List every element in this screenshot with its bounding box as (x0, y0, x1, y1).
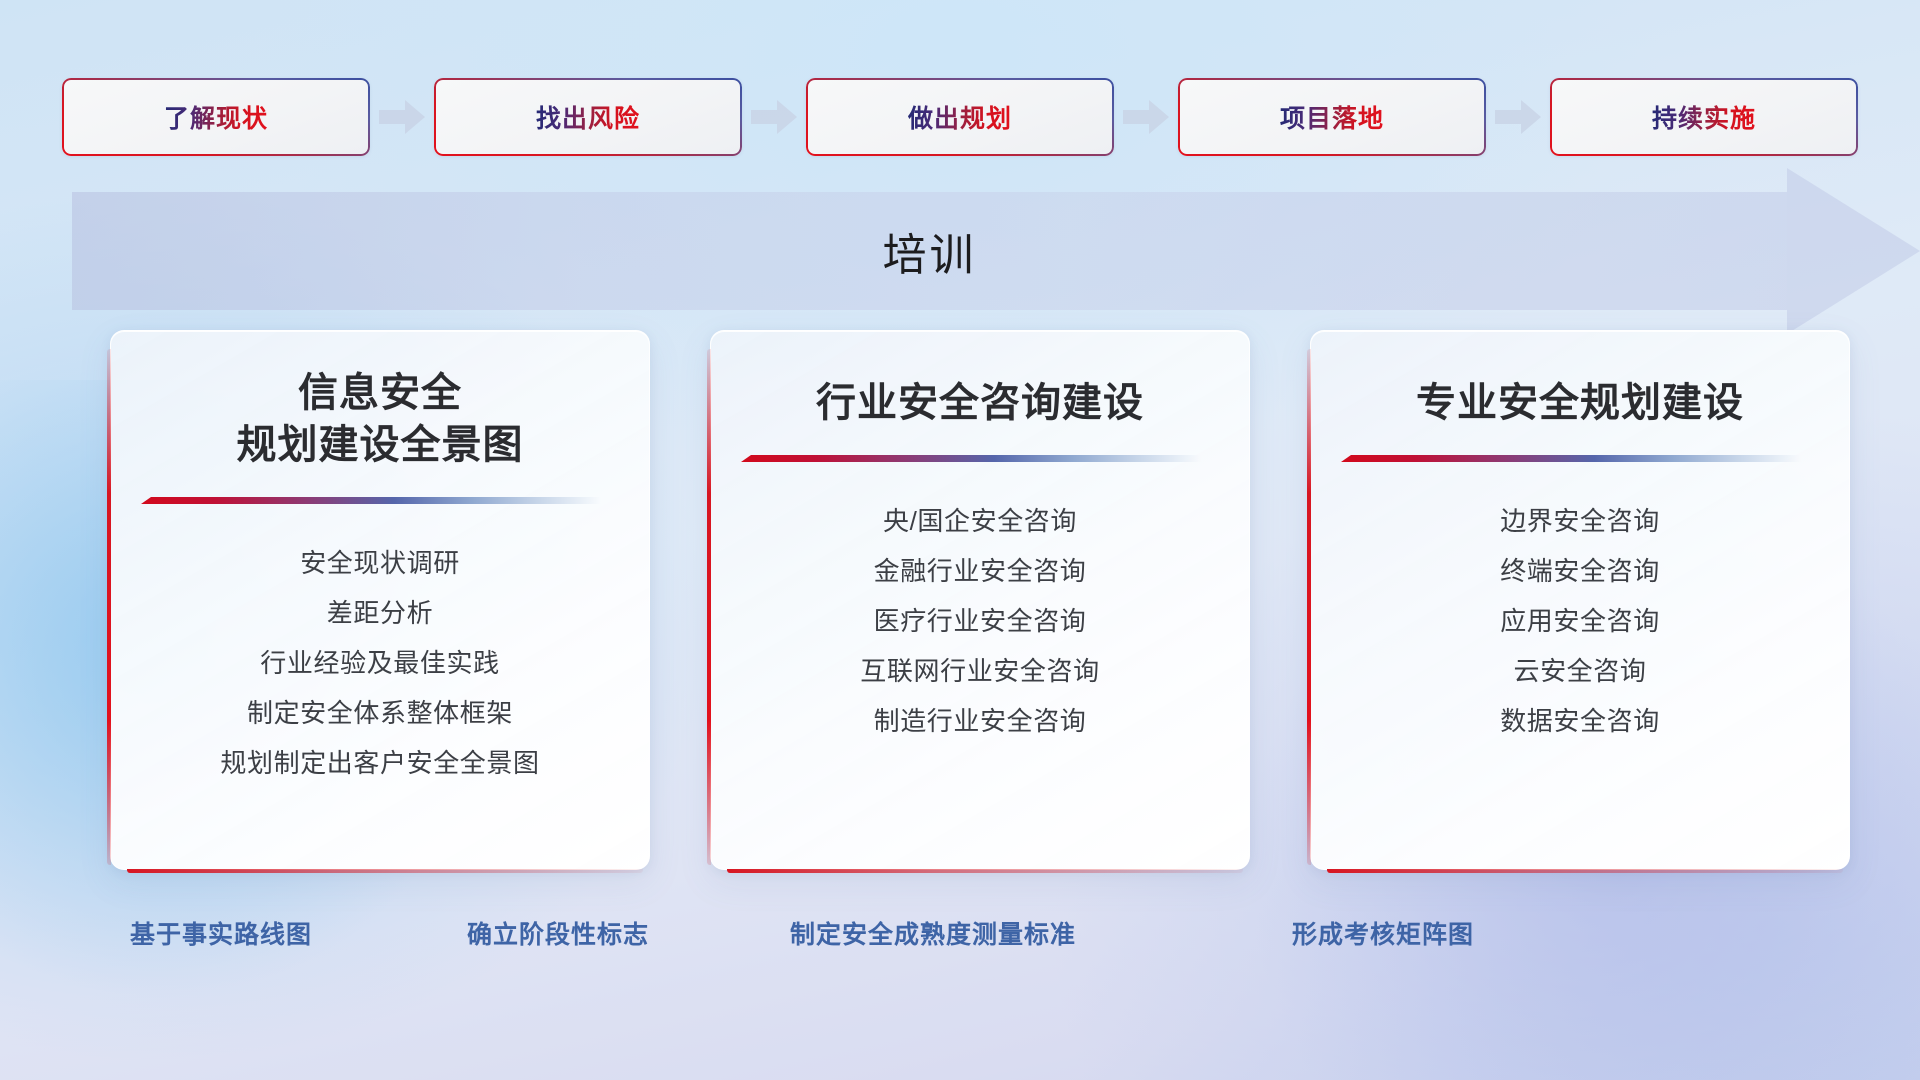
list-item: 央/国企安全咨询 (737, 496, 1223, 546)
card-title: 行业安全咨询建设 (711, 331, 1249, 429)
process-step-strip: 了解现状 找出风险 做出规划 项目落地 (62, 78, 1862, 156)
process-step-0[interactable]: 了解现状 (62, 78, 370, 156)
arrow-right-icon (1114, 78, 1178, 156)
card-item-list: 央/国企安全咨询 金融行业安全咨询 医疗行业安全咨询 互联网行业安全咨询 制造行… (711, 496, 1249, 746)
card-information-security-blueprint[interactable]: 信息安全 规划建设全景图 安全现状调研 差距分析 行业经验及最佳实践 制定安全体… (110, 330, 650, 870)
card-item-list: 安全现状调研 差距分析 行业经验及最佳实践 制定安全体系整体框架 规划制定出客户… (111, 538, 649, 788)
card-divider (141, 497, 601, 504)
card-slot-3: 专业安全规划建设 边界安全咨询 终端安全咨询 应用安全咨询 云安全咨询 数据安全… (1310, 330, 1900, 890)
list-item: 医疗行业安全咨询 (737, 596, 1223, 646)
card-divider (741, 455, 1201, 462)
list-item: 终端安全咨询 (1337, 546, 1823, 596)
list-item: 边界安全咨询 (1337, 496, 1823, 546)
caption-1: 确立阶段性标志 (467, 915, 649, 951)
process-step-4[interactable]: 持续实施 (1550, 78, 1858, 156)
list-item: 行业经验及最佳实践 (137, 638, 623, 688)
card-slot-2: 行业安全咨询建设 央/国企安全咨询 金融行业安全咨询 医疗行业安全咨询 互联网行… (710, 330, 1300, 890)
card-bottom-accent-bar (1327, 869, 1843, 873)
card-title: 专业安全规划建设 (1311, 331, 1849, 429)
process-step-1[interactable]: 找出风险 (434, 78, 742, 156)
caption-3: 形成考核矩阵图 (1292, 915, 1474, 951)
card-left-accent-bar (707, 349, 711, 865)
list-item: 数据安全咨询 (1337, 696, 1823, 746)
caption-2: 制定安全成熟度测量标准 (790, 915, 1076, 951)
card-title: 信息安全 规划建设全景图 (111, 331, 649, 471)
list-item: 金融行业安全咨询 (737, 546, 1223, 596)
list-item: 制定安全体系整体框架 (137, 688, 623, 738)
bottom-captions: 基于事实路线图 确立阶段性标志 制定安全成熟度测量标准 形成考核矩阵图 (0, 915, 1920, 963)
banner-title: 培训 (72, 192, 1787, 310)
card-divider (1341, 455, 1801, 462)
list-item: 安全现状调研 (137, 538, 623, 588)
list-item: 差距分析 (137, 588, 623, 638)
process-step-label: 项目落地 (1280, 99, 1384, 135)
arrow-right-icon (1486, 78, 1550, 156)
process-step-label: 了解现状 (164, 99, 268, 135)
process-step-2[interactable]: 做出规划 (806, 78, 1114, 156)
arrow-right-icon (370, 78, 434, 156)
list-item: 制造行业安全咨询 (737, 696, 1223, 746)
process-step-label: 持续实施 (1652, 99, 1756, 135)
list-item: 规划制定出客户安全全景图 (137, 738, 623, 788)
list-item: 云安全咨询 (1337, 646, 1823, 696)
card-industry-security-consulting[interactable]: 行业安全咨询建设 央/国企安全咨询 金融行业安全咨询 医疗行业安全咨询 互联网行… (710, 330, 1250, 870)
slide-canvas: 了解现状 找出风险 做出规划 项目落地 (0, 0, 1920, 1080)
process-step-3[interactable]: 项目落地 (1178, 78, 1486, 156)
arrow-right-icon (742, 78, 806, 156)
caption-0: 基于事实路线图 (130, 915, 312, 951)
card-bottom-accent-bar (127, 869, 643, 873)
card-bottom-accent-bar (727, 869, 1243, 873)
process-step-label: 做出规划 (908, 99, 1012, 135)
card-professional-security-planning[interactable]: 专业安全规划建设 边界安全咨询 终端安全咨询 应用安全咨询 云安全咨询 数据安全… (1310, 330, 1850, 870)
card-slot-1: 信息安全 规划建设全景图 安全现状调研 差距分析 行业经验及最佳实践 制定安全体… (110, 330, 700, 890)
cards-row: 信息安全 规划建设全景图 安全现状调研 差距分析 行业经验及最佳实践 制定安全体… (0, 330, 1920, 890)
card-left-accent-bar (107, 349, 111, 865)
card-item-list: 边界安全咨询 终端安全咨询 应用安全咨询 云安全咨询 数据安全咨询 (1311, 496, 1849, 746)
training-banner: 培训 (72, 192, 1920, 310)
list-item: 互联网行业安全咨询 (737, 646, 1223, 696)
card-left-accent-bar (1307, 349, 1311, 865)
process-step-label: 找出风险 (536, 99, 640, 135)
list-item: 应用安全咨询 (1337, 596, 1823, 646)
